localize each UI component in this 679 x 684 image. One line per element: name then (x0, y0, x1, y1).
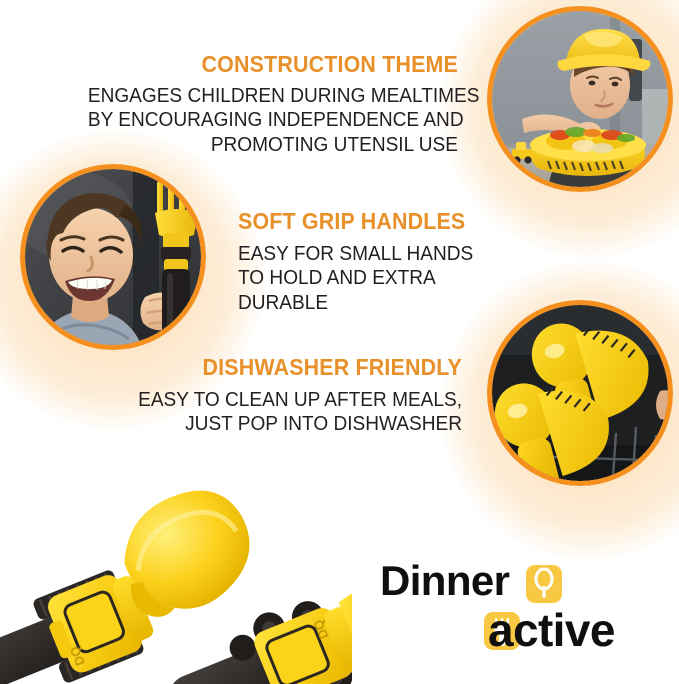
spoon-icon-glyph (526, 565, 562, 603)
feature-heading-construction-theme: CONSTRUCTION THEME (88, 52, 458, 76)
feature-body-line: BY ENCOURAGING INDEPENDENCE AND (88, 108, 458, 132)
product-photo-art: DQ (0, 430, 352, 684)
photo-boy-hard-hat-eating-art (492, 11, 668, 187)
feature-block-construction-theme: CONSTRUCTION THEME ENGAGES CHILDREN DURI… (60, 52, 458, 157)
feature-body-line: TO HOLD AND EXTRA (238, 266, 480, 290)
feature-body-line: EASY TO CLEAN UP AFTER MEALS, (135, 388, 462, 412)
feature-body-line: DURABLE (238, 291, 480, 315)
product-feature-infographic: Boy wearing a yellow construction hard h… (0, 0, 679, 684)
feature-heading-dishwasher-friendly: DISHWASHER FRIENDLY (135, 355, 462, 379)
feature-body-construction-theme: ENGAGES CHILDREN DURING MEALTIMES BY ENC… (88, 84, 458, 157)
brand-logo: Dinner active (378, 557, 668, 662)
photo-boy-holding-fork (20, 164, 206, 350)
feature-block-dishwasher-friendly: DISHWASHER FRIENDLY EASY TO CLEAN UP AFT… (110, 355, 462, 437)
photo-utensils-in-dishwasher-art (492, 305, 668, 481)
photo-boy-hard-hat-eating (487, 6, 673, 192)
photo-utensils-in-dishwasher (487, 300, 673, 486)
feature-body-soft-grip-handles: EASY FOR SMALL HANDS TO HOLD AND EXTRA D… (238, 242, 480, 315)
brand-logo-word-active: active (488, 603, 615, 657)
photo-caption-left: Smiling boy holding a yellow constructio… (0, 0, 1, 1)
product-photo-spoon-and-fork: DQ (0, 430, 352, 684)
photo-caption-top-right: Boy wearing a yellow construction hard h… (0, 0, 1, 1)
feature-body-line: ENGAGES CHILDREN DURING MEALTIMES (88, 84, 458, 108)
brand-logo-word-dinner: Dinner (380, 557, 509, 605)
feature-body-line: EASY FOR SMALL HANDS (238, 242, 480, 266)
product-caption: Yellow bulldozer spoon and fork with bla… (0, 0, 1, 1)
photo-caption-bottom-right: Yellow construction utensils resting in … (0, 0, 1, 1)
feature-body-line: PROMOTING UTENSIL USE (88, 133, 458, 157)
feature-block-soft-grip-handles: SOFT GRIP HANDLES EASY FOR SMALL HANDS T… (238, 209, 498, 315)
photo-boy-holding-fork-art (25, 169, 201, 345)
feature-heading-soft-grip-handles: SOFT GRIP HANDLES (238, 209, 480, 233)
spoon-icon (526, 565, 562, 603)
